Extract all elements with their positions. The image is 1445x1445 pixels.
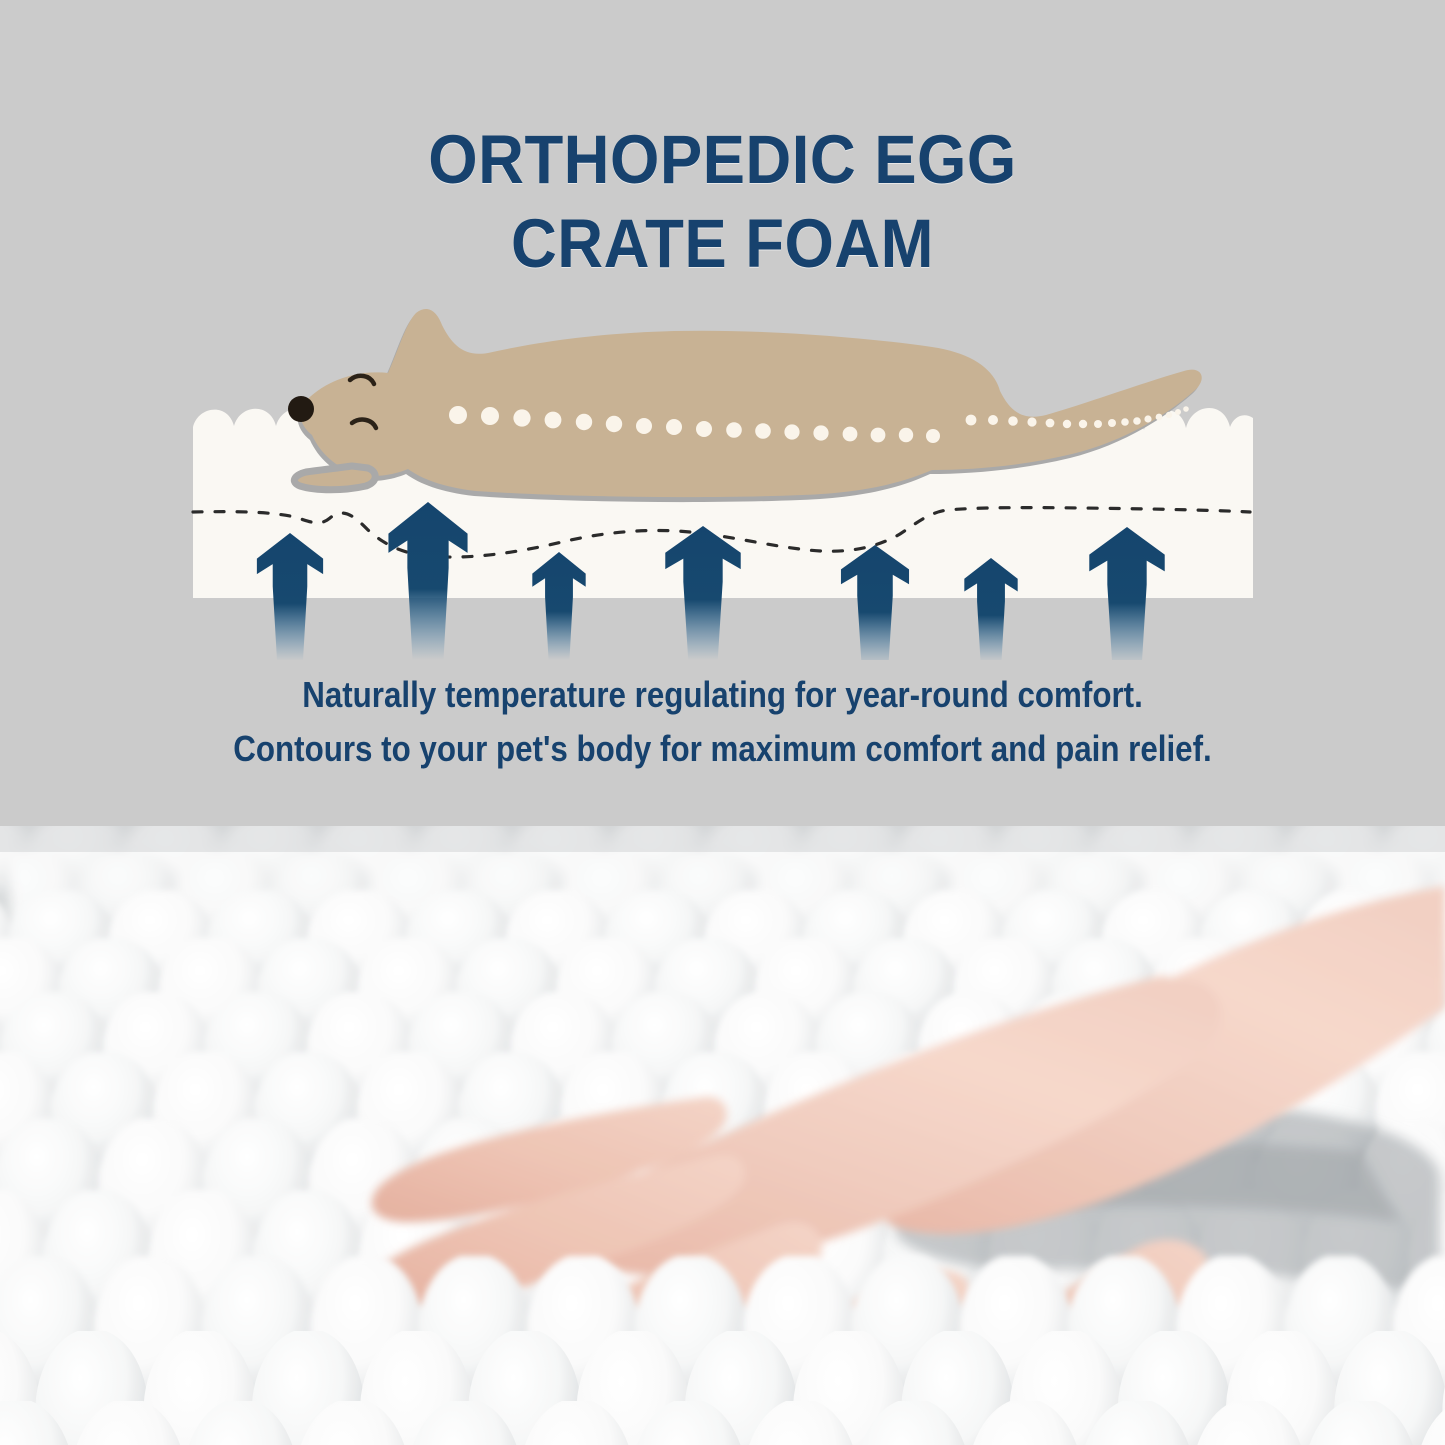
dog-nose [288,396,314,422]
infographic-top-panel: ORTHOPEDIC EGG CRATE FOAM [0,0,1445,826]
caption-line-1: Naturally temperature regulating for yea… [94,668,1351,722]
hand-pressing-egg-crate-foam-photo [0,826,1445,1445]
product-infographic-page: ORTHOPEDIC EGG CRATE FOAM [0,0,1445,1445]
feature-captions: Naturally temperature regulating for yea… [94,668,1351,776]
dog-on-foam-pressure-diagram [0,290,1445,650]
page-title: ORTHOPEDIC EGG CRATE FOAM [58,118,1387,286]
caption-line-2: Contours to your pet's body for maximum … [94,722,1351,776]
